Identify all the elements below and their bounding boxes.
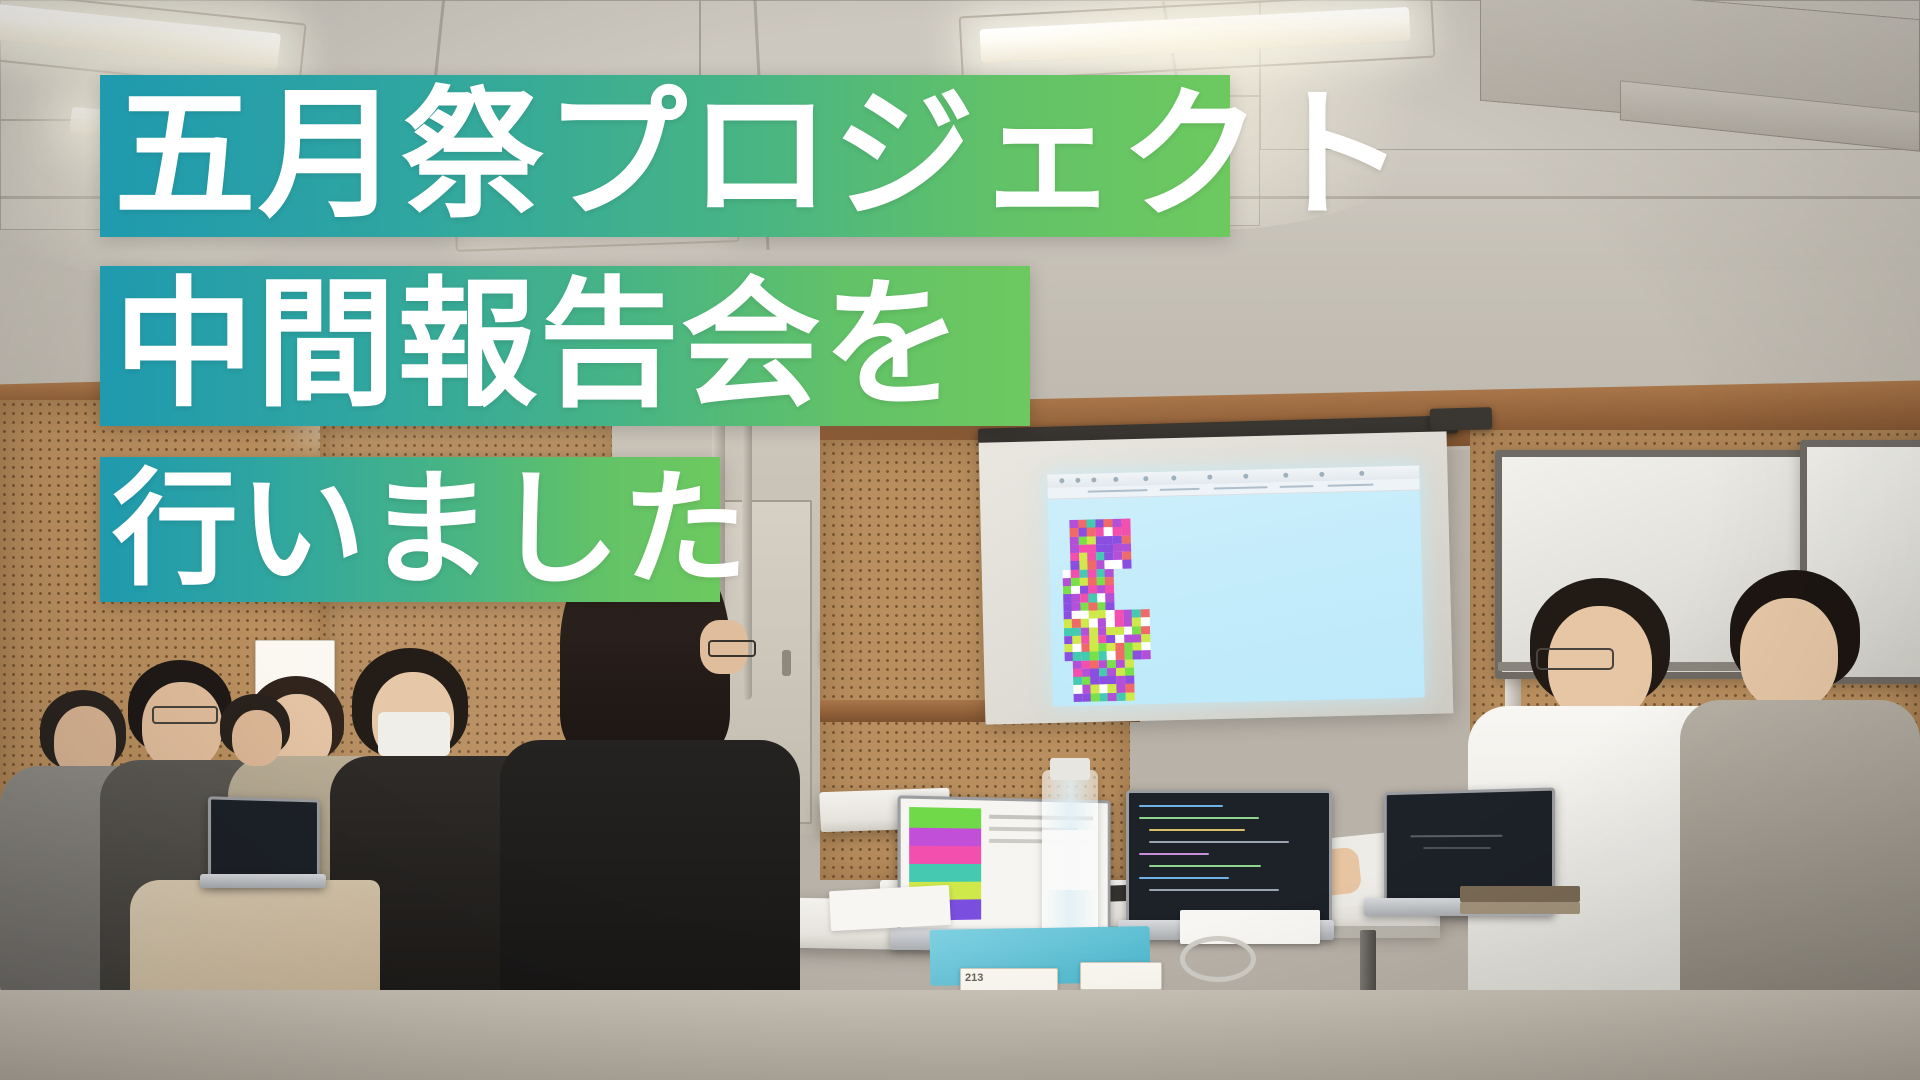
screenshot-root: 213 bbox=[0, 0, 1920, 1080]
overlay-band-2: 中間報告会を bbox=[100, 266, 1030, 426]
overlay-line-3: 行いました bbox=[100, 467, 750, 593]
overlay-line-1: 五月祭プロジェクト bbox=[100, 85, 1407, 227]
overlay-line-2: 中間報告会を bbox=[100, 276, 964, 416]
text-overlay: 五月祭プロジェクト 中間報告会を 行いました bbox=[0, 0, 1920, 1080]
overlay-band-3: 行いました bbox=[100, 457, 720, 602]
overlay-band-1: 五月祭プロジェクト bbox=[100, 75, 1230, 237]
